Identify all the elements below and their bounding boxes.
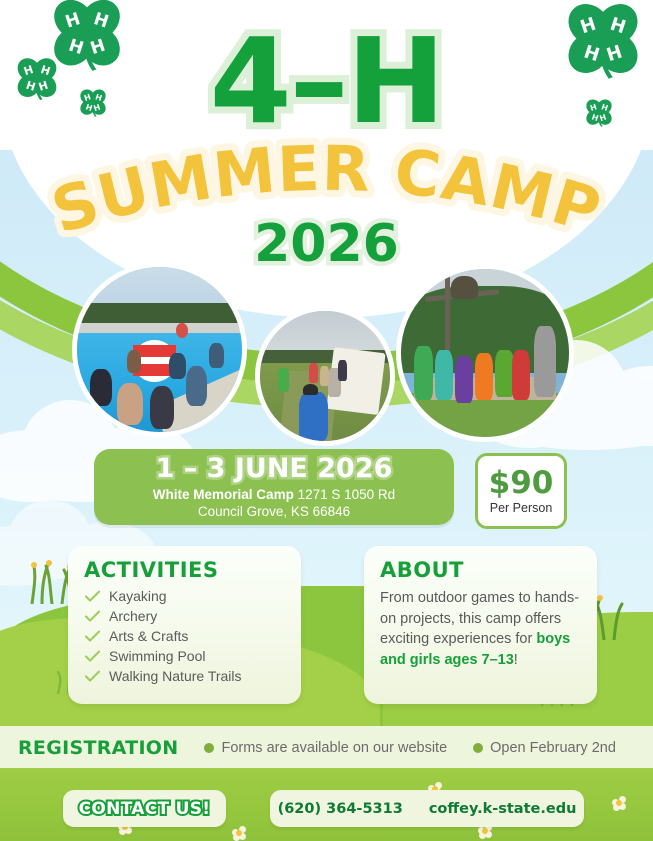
list-item: Arts & Crafts <box>84 628 285 644</box>
activity-label: Archery <box>109 608 157 624</box>
activities-list: Kayaking Archery Arts & Crafts Swimming … <box>84 588 285 684</box>
flyer-page: H H H H H H H H <box>0 0 653 841</box>
price-badge: $90 Per Person <box>475 453 567 529</box>
contact-us-label: CONTACT US! <box>79 799 211 819</box>
activities-heading: ACTIVITIES <box>84 558 285 582</box>
bullet-dot-icon <box>204 743 214 753</box>
photo-group-bell <box>396 264 574 442</box>
registration-item: Forms are available on our website <box>204 740 447 756</box>
check-icon <box>84 590 101 603</box>
registration-item: Open February 2nd <box>473 740 616 756</box>
event-date-card: 1 – 3 JUNE 2026 White Memorial Camp 1271… <box>94 449 454 525</box>
header-block: 4–H SUMMER CAMP SUMMER CAMP 2026 <box>0 0 653 270</box>
event-dates: 1 – 3 JUNE 2026 <box>156 453 393 484</box>
activity-label: Swimming Pool <box>109 648 205 664</box>
website-link[interactable]: coffey.k-state.edu <box>429 801 577 817</box>
bullet-dot-icon <box>473 743 483 753</box>
about-text-tail: ! <box>514 652 518 668</box>
registration-item-label: Forms are available on our website <box>221 740 447 756</box>
phone-number[interactable]: (620) 364-5313 <box>278 801 403 817</box>
about-text: From outdoor games to hands-on projects,… <box>380 588 581 670</box>
price-unit: Per Person <box>490 501 553 515</box>
list-item: Archery <box>84 608 285 624</box>
check-icon <box>84 610 101 623</box>
registration-item-label: Open February 2nd <box>490 740 616 756</box>
event-venue-line: White Memorial Camp 1271 S 1050 Rd <box>153 487 395 504</box>
list-item: Kayaking <box>84 588 285 604</box>
list-item: Walking Nature Trails <box>84 668 285 684</box>
activities-card: ACTIVITIES Kayaking Archery Arts & Craft… <box>68 546 301 704</box>
event-venue-city: Council Grove, KS 66846 <box>198 504 350 521</box>
event-venue-name: White Memorial Camp <box>153 487 294 502</box>
photo-field-walk <box>255 306 395 446</box>
activity-label: Walking Nature Trails <box>109 668 242 684</box>
photo-gallery <box>0 262 653 442</box>
flower-icon <box>232 826 246 840</box>
registration-title: REGISTRATION <box>18 737 178 759</box>
about-card: ABOUT From outdoor games to hands-on pro… <box>364 546 597 704</box>
event-venue-address: 1271 S 1050 Rd <box>298 487 396 502</box>
page-title: 4–H <box>0 22 653 140</box>
contact-us-button[interactable]: CONTACT US! <box>63 790 226 827</box>
flower-icon <box>612 796 626 810</box>
check-icon <box>84 650 101 663</box>
registration-bar: REGISTRATION Forms are available on our … <box>0 726 653 770</box>
activity-label: Arts & Crafts <box>109 628 188 644</box>
check-icon <box>84 670 101 683</box>
list-item: Swimming Pool <box>84 648 285 664</box>
photo-swimming-pool <box>72 262 247 437</box>
check-icon <box>84 630 101 643</box>
activity-label: Kayaking <box>109 588 167 604</box>
price-amount: $90 <box>489 468 554 499</box>
about-heading: ABOUT <box>380 558 581 582</box>
contact-info-pill: (620) 364-5313 coffey.k-state.edu <box>270 790 584 827</box>
